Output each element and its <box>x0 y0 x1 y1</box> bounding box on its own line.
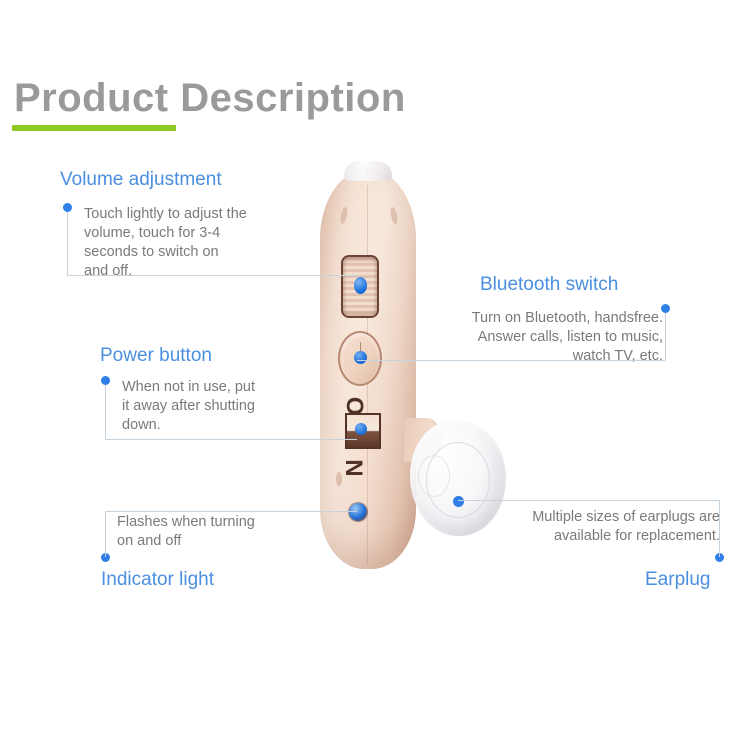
callout-connector-horizontal-earplug <box>458 500 720 501</box>
callout-connector-horizontal-volume-adjustment <box>67 275 357 276</box>
device-illustration: ᛦ O N <box>300 155 510 585</box>
device-top-cap <box>344 161 392 181</box>
callout-dot-volume-adjustment <box>63 203 72 212</box>
indicator-led <box>349 503 367 521</box>
callout-connector-horizontal-power-button <box>105 439 357 440</box>
callout-connector-horizontal-bluetooth-switch <box>357 360 665 361</box>
callout-body-earplug: Multiple sizes of earplugs are available… <box>480 508 720 546</box>
callout-heading-bluetooth-switch: Bluetooth switch <box>480 275 618 296</box>
callout-heading-power-button: Power button <box>100 346 212 367</box>
page-title: Product Description <box>14 78 406 118</box>
callout-dot-power-button <box>101 376 110 385</box>
power-switch-marker-dot <box>355 423 367 435</box>
callout-dot-bluetooth-switch <box>661 304 670 313</box>
callout-connector-horizontal-indicator-light <box>105 511 357 512</box>
volume-switch-marker-dot <box>354 277 367 294</box>
callout-connector-vertical-indicator-light <box>105 511 106 557</box>
earplug-ring-inner <box>418 455 450 497</box>
callout-connector-vertical-bluetooth-switch <box>665 313 666 360</box>
callout-body-indicator-light: Flashes when turning on and off <box>117 513 327 551</box>
earplug-marker-dot <box>453 496 464 507</box>
callout-body-volume-adjustment: Touch lightly to adjust the volume, touc… <box>84 205 314 282</box>
power-switch-label-off: N <box>344 459 368 476</box>
bluetooth-button-marker-dot <box>354 351 367 364</box>
callout-heading-earplug: Earplug <box>645 570 711 591</box>
callout-body-bluetooth-switch: Turn on Bluetooth, handsfree. Answer cal… <box>413 309 663 366</box>
callout-connector-vertical-volume-adjustment <box>67 212 68 275</box>
callout-heading-volume-adjustment: Volume adjustment <box>60 170 222 191</box>
callout-heading-indicator-light: Indicator light <box>101 570 214 591</box>
callout-body-power-button: When not in use, put it away after shutt… <box>122 378 322 435</box>
callout-connector-vertical-power-button <box>105 385 106 439</box>
title-underline-rule <box>12 125 176 131</box>
product-description-infographic: Product Description ᛦ O N Volume adjustm… <box>0 0 750 750</box>
callout-connector-vertical-earplug <box>719 500 720 557</box>
